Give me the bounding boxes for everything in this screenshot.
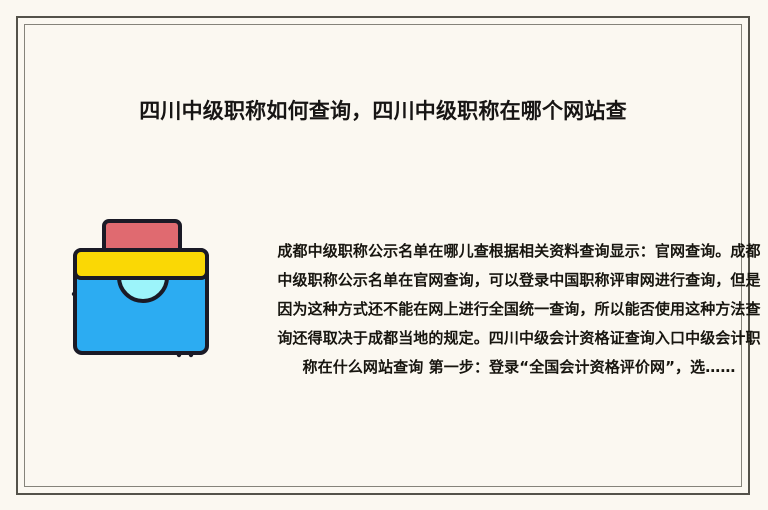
content-card: 四川中级职称如何查询，四川中级职称在哪个网站查 成都中级职称公示名单在哪儿查根据…: [16, 16, 750, 495]
briefcase-stud-bottom-b-icon: [189, 353, 193, 357]
briefcase-lid-icon: [75, 250, 207, 278]
page-title: 四川中级职称如何查询，四川中级职称在哪个网站查: [18, 94, 748, 128]
briefcase-stud-bottom-a-icon: [177, 353, 181, 357]
briefcase-illustration: [71, 214, 211, 359]
briefcase-stud-left-icon: [72, 292, 76, 296]
article-excerpt: 成都中级职称公示名单在哪儿查根据相关资料查询显示：官网查询。成都中级职称公示名单…: [276, 237, 762, 382]
